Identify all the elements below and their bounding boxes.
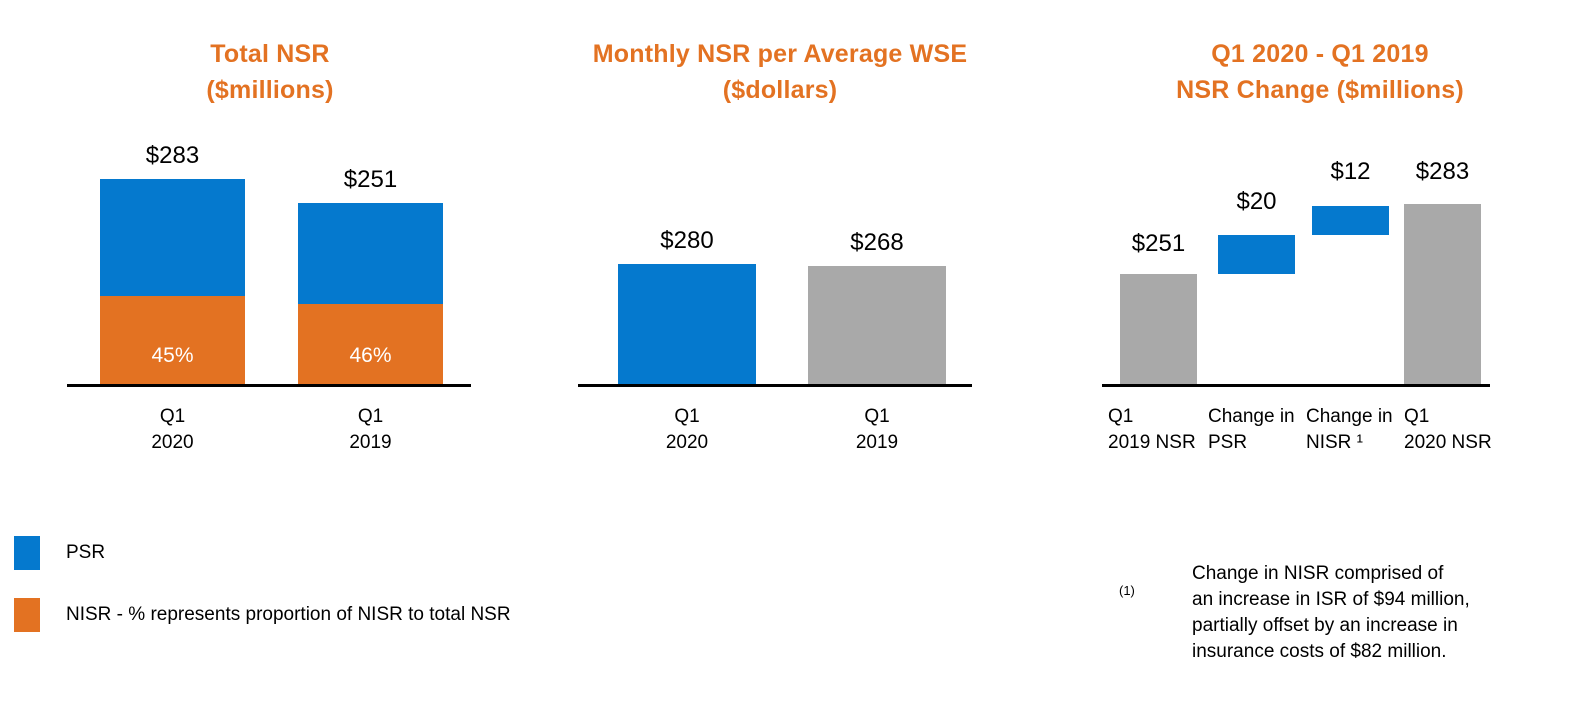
legend-item-nisr[interactable]: NISR - % represents proportion of NISR t… bbox=[14, 598, 511, 632]
pct-label-q1-2020: 45% bbox=[102, 344, 243, 368]
category-label-line2: PSR bbox=[1208, 432, 1247, 453]
bar-segment-nisr-q1-2020 bbox=[100, 296, 245, 384]
waterfall-bar-q1-2020-nsr bbox=[1404, 204, 1481, 384]
category-label-line2: 2019 bbox=[856, 432, 898, 453]
axis-baseline-monthly-nsr bbox=[578, 384, 972, 387]
bar-q1-2020-monthly-nsr bbox=[618, 264, 756, 384]
category-label-line1: Q1 bbox=[1108, 406, 1133, 427]
category-label-total-nsr-1: Q12019 bbox=[300, 404, 441, 456]
legend-swatch-nisr-icon bbox=[14, 598, 40, 632]
category-label-line2: 2019 NSR bbox=[1108, 432, 1196, 453]
category-label-monthly-nsr-0: Q12020 bbox=[618, 404, 756, 456]
category-label-nsr-change-2: Change inNISR ¹ bbox=[1306, 404, 1406, 456]
axis-baseline-nsr-change bbox=[1102, 384, 1490, 387]
category-label-line2: 2020 NSR bbox=[1404, 432, 1492, 453]
footnote-text: Change in NISR comprised of an increase … bbox=[1192, 561, 1572, 665]
waterfall-value-label-q1-2020-nsr: $283 bbox=[1394, 158, 1491, 186]
waterfall-value-label-q1-2019-nsr: $251 bbox=[1110, 230, 1207, 258]
value-label-q1-2020: $283 bbox=[102, 142, 243, 170]
bar-q1-2019-monthly-nsr bbox=[808, 266, 946, 384]
plot-area-nsr-change: $251 $20 $12 $283 Q12019 NSR Change inPS… bbox=[1040, 0, 1574, 480]
chart-panel-monthly-nsr: Monthly NSR per Average WSE ($dollars) $… bbox=[520, 0, 1040, 480]
plot-area-total-nsr: $283 45% $251 46% Q12020 Q12019 bbox=[0, 0, 520, 480]
waterfall-bar-q1-2019-nsr bbox=[1120, 274, 1197, 384]
bar-segment-psr-q1-2020 bbox=[100, 179, 245, 296]
footnote-marker: (1) bbox=[1119, 583, 1135, 598]
legend-label-nisr: NISR - % represents proportion of NISR t… bbox=[66, 604, 511, 626]
waterfall-bar-change-in-nisr bbox=[1312, 206, 1389, 235]
waterfall-value-label-change-in-nisr: $12 bbox=[1302, 158, 1399, 186]
waterfall-bar-change-in-psr bbox=[1218, 235, 1295, 274]
category-label-line1: Q1 bbox=[864, 406, 889, 427]
chart-panel-nsr-change: Q1 2020 - Q1 2019 NSR Change ($millions)… bbox=[1040, 0, 1574, 480]
category-label-line1: Q1 bbox=[160, 406, 185, 427]
category-label-total-nsr-0: Q12020 bbox=[102, 404, 243, 456]
category-label-line2: NISR ¹ bbox=[1306, 432, 1363, 453]
chart-legend: PSR NISR - % represents proportion of NI… bbox=[0, 520, 560, 650]
axis-baseline-total-nsr bbox=[67, 384, 471, 387]
pct-label-q1-2019: 46% bbox=[300, 344, 441, 368]
bar-segment-psr-q1-2019 bbox=[298, 203, 443, 304]
category-label-nsr-change-1: Change inPSR bbox=[1208, 404, 1308, 456]
footnote-block: (1) Change in NISR comprised of an incre… bbox=[1100, 555, 1574, 675]
category-label-line1: Q1 bbox=[674, 406, 699, 427]
legend-item-psr[interactable]: PSR bbox=[14, 536, 105, 570]
category-label-line1: Q1 bbox=[358, 406, 383, 427]
value-label-monthly-q1-2020: $280 bbox=[618, 227, 756, 255]
category-label-line1: Change in bbox=[1306, 406, 1393, 427]
legend-swatch-psr-icon bbox=[14, 536, 40, 570]
category-label-line2: 2019 bbox=[349, 432, 391, 453]
category-label-line1: Q1 bbox=[1404, 406, 1429, 427]
category-label-line2: 2020 bbox=[666, 432, 708, 453]
category-label-line1: Change in bbox=[1208, 406, 1295, 427]
category-label-nsr-change-0: Q12019 NSR bbox=[1108, 404, 1208, 456]
category-label-monthly-nsr-1: Q12019 bbox=[808, 404, 946, 456]
waterfall-value-label-change-in-psr: $20 bbox=[1208, 188, 1305, 216]
legend-label-psr: PSR bbox=[66, 542, 105, 564]
plot-area-monthly-nsr: $280 $268 Q12020 Q12019 bbox=[520, 0, 1040, 480]
category-label-nsr-change-3: Q12020 NSR bbox=[1404, 404, 1514, 456]
category-label-line2: 2020 bbox=[151, 432, 193, 453]
value-label-monthly-q1-2019: $268 bbox=[808, 229, 946, 257]
value-label-q1-2019: $251 bbox=[300, 166, 441, 194]
chart-panel-total-nsr: Total NSR ($millions) $283 45% $251 46% … bbox=[0, 0, 520, 480]
